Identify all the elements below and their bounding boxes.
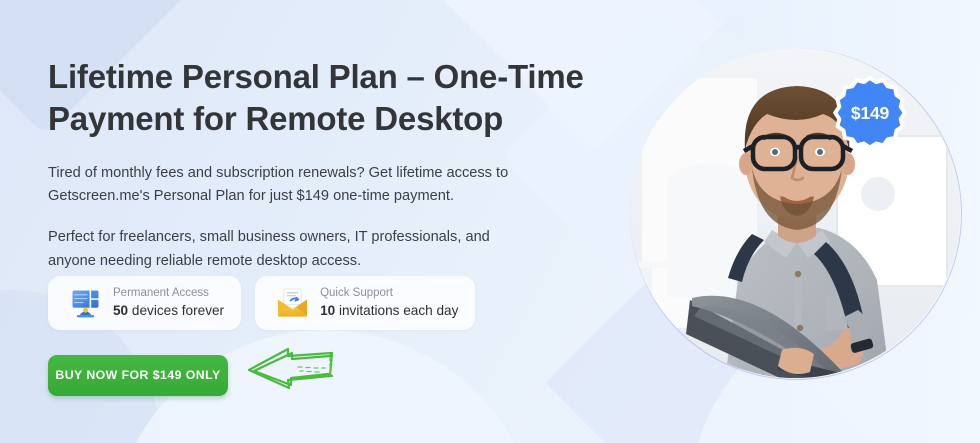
feature-unit: invitations each day <box>335 303 458 318</box>
hero-photo <box>612 18 980 418</box>
feature-title: Quick Support <box>320 287 458 300</box>
feature-card-list: Permanent Access 50 devices forever <box>48 276 475 330</box>
banner-copy: Lifetime Personal Plan – One-Time Paymen… <box>48 56 588 273</box>
feature-card-permanent-access: Permanent Access 50 devices forever <box>48 276 241 330</box>
feature-value: 50 devices forever <box>113 304 224 319</box>
feature-unit: devices forever <box>128 303 224 318</box>
intro-paragraph: Tired of monthly fees and subscription r… <box>48 162 518 209</box>
feature-card-quick-support: Quick Support 10 invitations each day <box>255 276 475 330</box>
envelope-icon <box>276 287 309 318</box>
price-badge: $149 <box>833 76 907 150</box>
buy-now-button[interactable]: BUY NOW FOR $149 ONLY <box>48 355 228 396</box>
feature-number: 10 <box>320 303 335 318</box>
page-title: Lifetime Personal Plan – One-Time Paymen… <box>48 56 588 140</box>
feature-value: 10 invitations each day <box>320 304 458 319</box>
feature-text: Quick Support 10 invitations each day <box>320 287 458 319</box>
cta-row: BUY NOW FOR $149 ONLY <box>48 351 336 399</box>
price-badge-label: $149 <box>833 76 907 150</box>
promo-banner: $149 Lifetime Personal Plan – One-Time P… <box>0 0 980 443</box>
feature-number: 50 <box>113 303 128 318</box>
feature-title: Permanent Access <box>113 287 224 300</box>
audience-paragraph: Perfect for freelancers, small business … <box>48 226 528 273</box>
feature-text: Permanent Access 50 devices forever <box>113 287 224 319</box>
monitor-icon <box>69 287 102 318</box>
hero-image-area <box>612 18 980 443</box>
hand-drawn-arrow-left-icon <box>244 347 336 399</box>
